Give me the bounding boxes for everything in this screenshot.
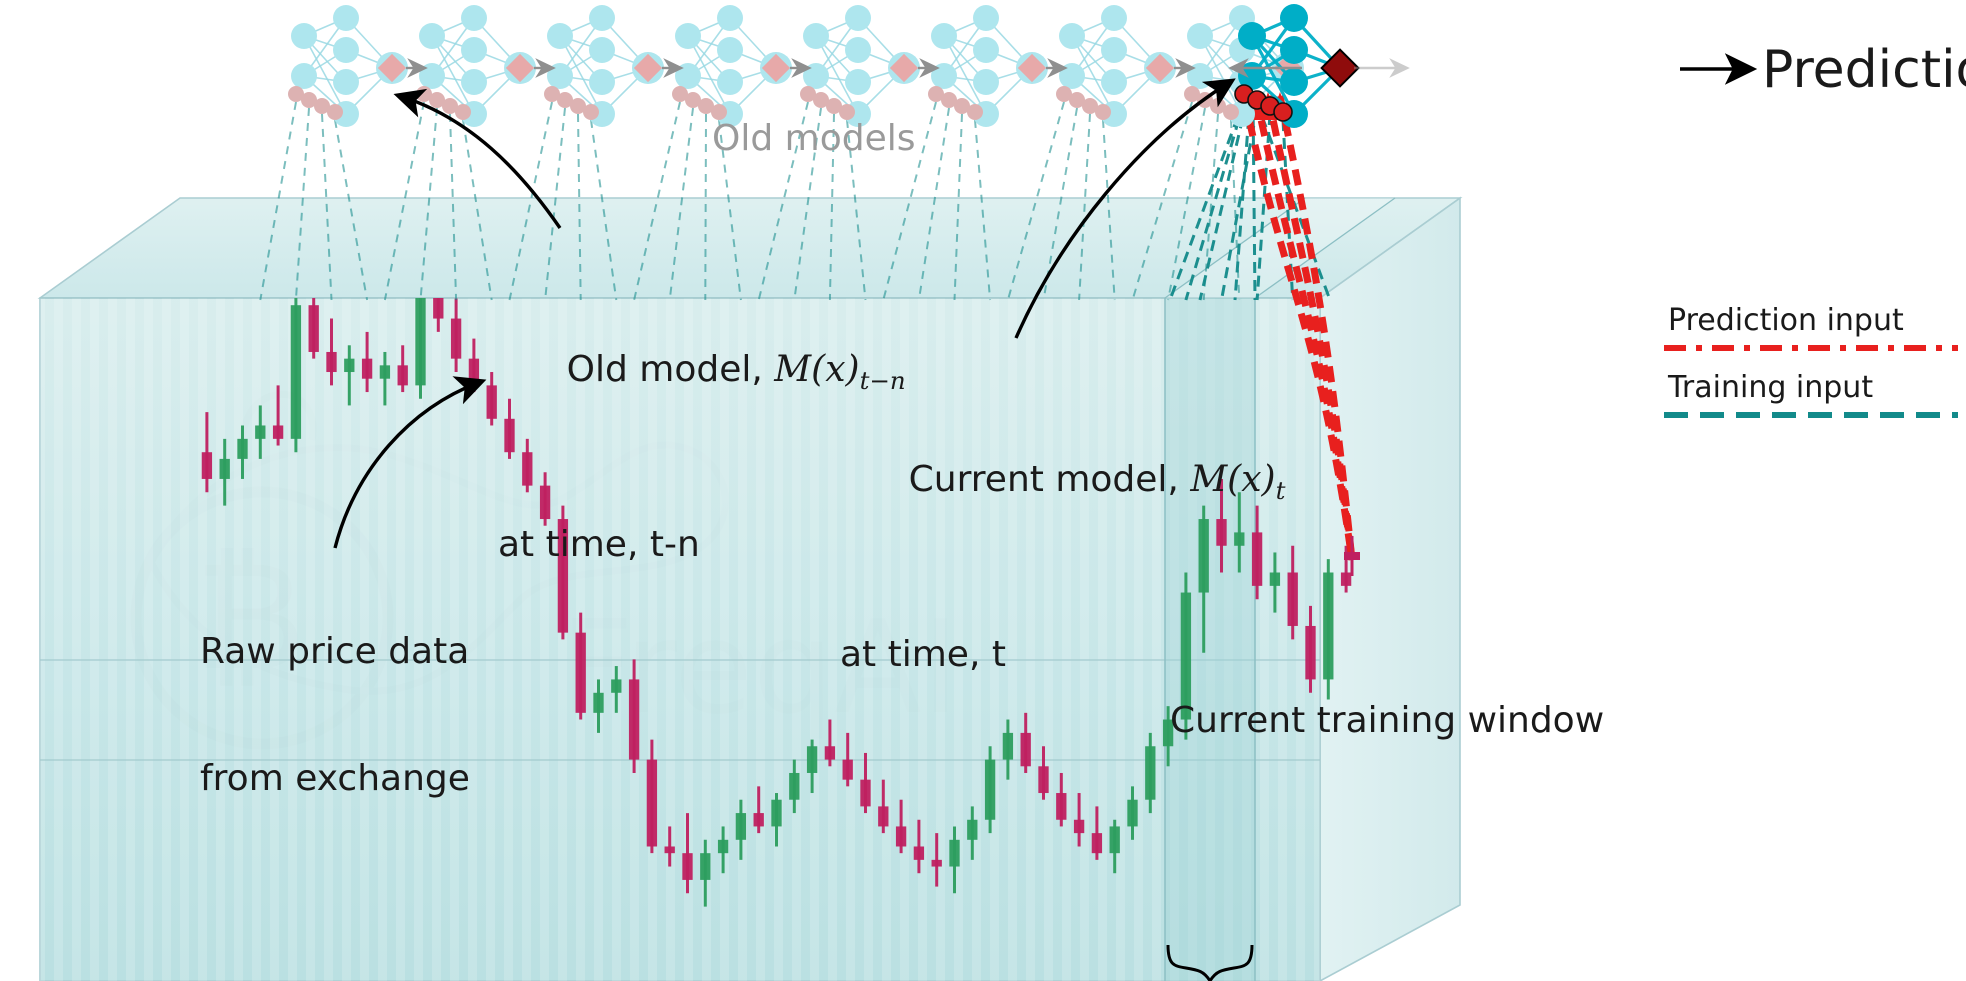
- current-model-annotation: Current model, M(x)t at time, t: [840, 332, 1285, 761]
- current-model-math-sub: t: [1276, 476, 1286, 505]
- raw-price-annotation-line1: Raw price data: [200, 631, 470, 673]
- legend-label-training-input: Training input: [1668, 370, 1873, 405]
- old-model-annotation-prefix: Old model,: [567, 349, 775, 390]
- raw-price-annotation: Raw price data from exchange: [200, 546, 470, 886]
- current-model-annotation-line1: Current model, M(x)t: [840, 417, 1285, 549]
- legend-label-prediction-input: Prediction input: [1668, 303, 1904, 338]
- current-model-annotation-line2: at time, t: [840, 634, 1285, 676]
- current-training-window-label: Current training window: [1170, 700, 1604, 742]
- figure-canvas: ₿ FreqAI: [0, 0, 1966, 981]
- raw-price-annotation-line2: from exchange: [200, 758, 470, 800]
- prediction-label: Prediction: [1762, 40, 1966, 101]
- old-models-label: Old models: [712, 118, 915, 160]
- current-model-annotation-prefix: Current model,: [909, 459, 1191, 500]
- current-model-math: M(x): [1190, 459, 1275, 500]
